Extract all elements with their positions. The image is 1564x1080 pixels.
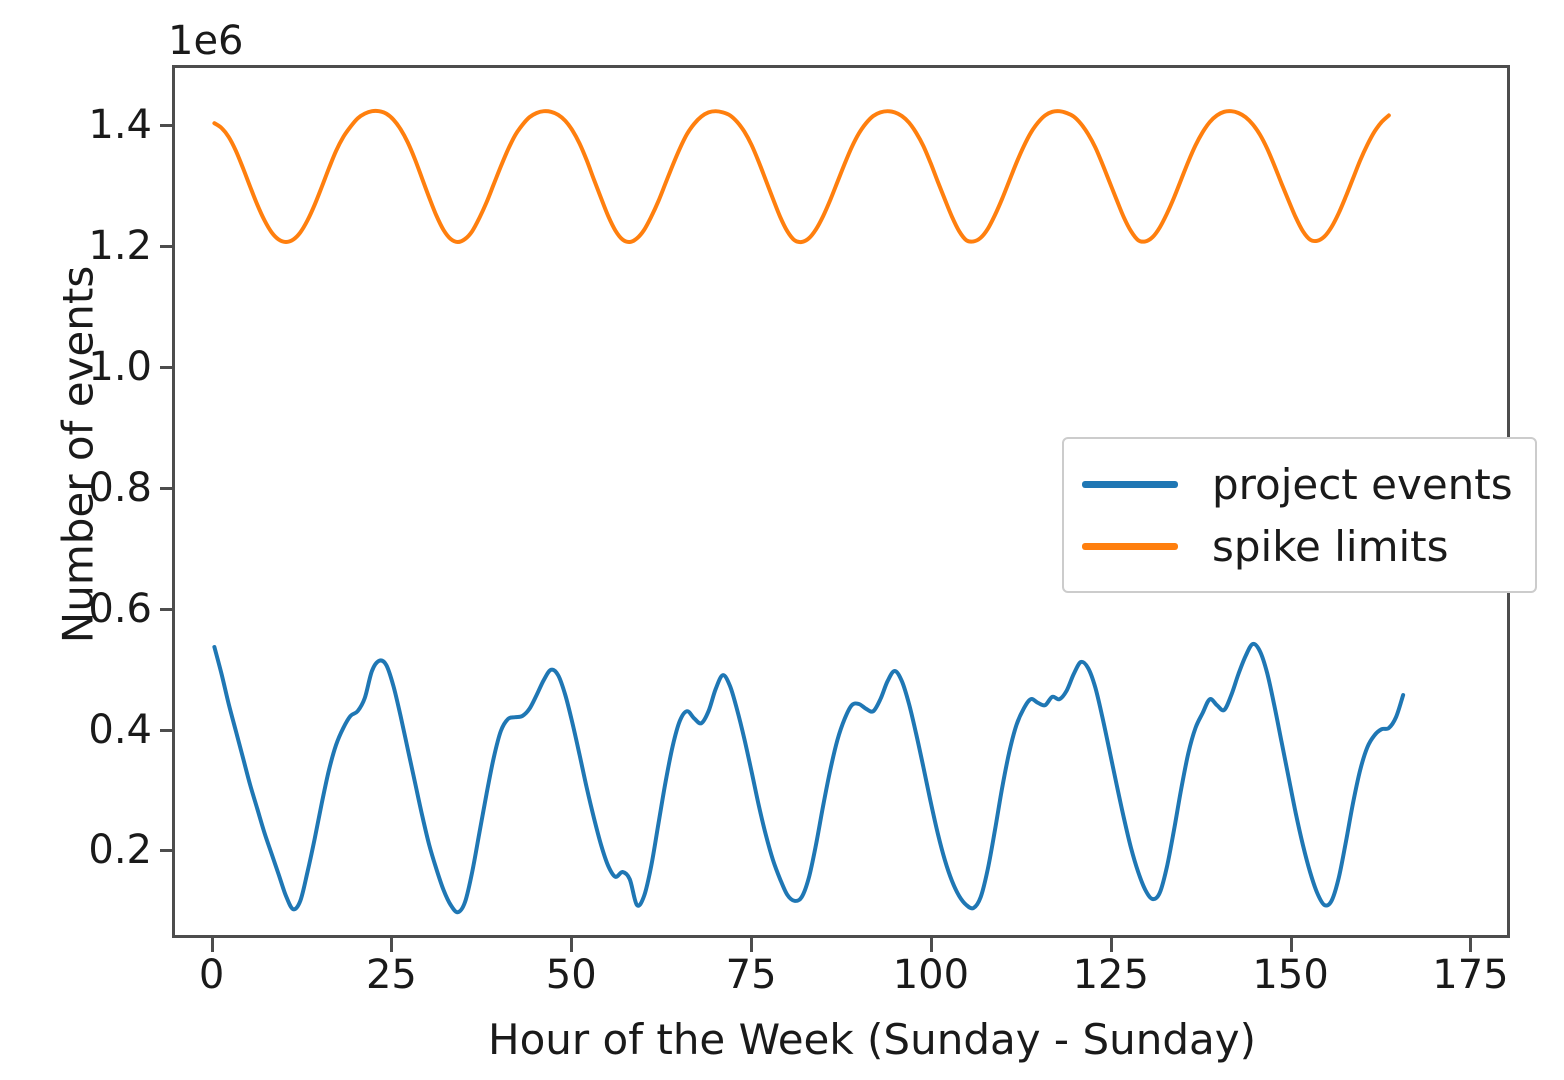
x-tick-mark [570,938,573,952]
y-tick-mark [160,245,173,248]
y-tick-mark [160,124,173,127]
x-tick-mark [750,938,753,952]
x-tick-label: 100 [893,952,969,998]
x-tick-mark [211,938,214,952]
x-tick-mark [1290,938,1293,952]
series-line-spike-limits [214,111,1388,242]
legend-item-spike-limits[interactable]: spike limits [1082,515,1513,577]
x-tick-label: 50 [546,952,597,998]
x-tick-mark [930,938,933,952]
x-tick-label: 0 [199,952,224,998]
x-tick-label: 125 [1073,952,1149,998]
legend-label-spike-limits: spike limits [1212,522,1449,571]
x-tick-label: 25 [366,952,417,998]
matplotlib-figure: 1e6 0.20.40.60.81.01.21.4 project events… [0,0,1564,1080]
x-tick-mark [390,938,393,952]
legend-swatch-spike-limits [1082,543,1178,550]
y-tick-mark [160,729,173,732]
y-tick-mark [160,366,173,369]
legend-item-project-events[interactable]: project events [1082,453,1513,515]
x-tick-label: 150 [1252,952,1328,998]
x-tick-label: 175 [1432,952,1508,998]
y-tick-mark [160,849,173,852]
chart-legend[interactable]: project events spike limits [1062,437,1537,593]
x-axis-title: Hour of the Week (Sunday - Sunday) [0,1015,1564,1064]
series-line-project-events [214,644,1403,912]
x-tick-mark [1110,938,1113,952]
legend-label-project-events: project events [1212,460,1513,509]
y-tick-mark [160,608,173,611]
x-tick-label: 75 [726,952,777,998]
y-axis-offset-text: 1e6 [168,18,244,64]
legend-swatch-project-events [1082,481,1178,488]
x-tick-mark [1469,938,1472,952]
y-axis-title: Number of events [54,55,103,855]
y-tick-mark [160,487,173,490]
